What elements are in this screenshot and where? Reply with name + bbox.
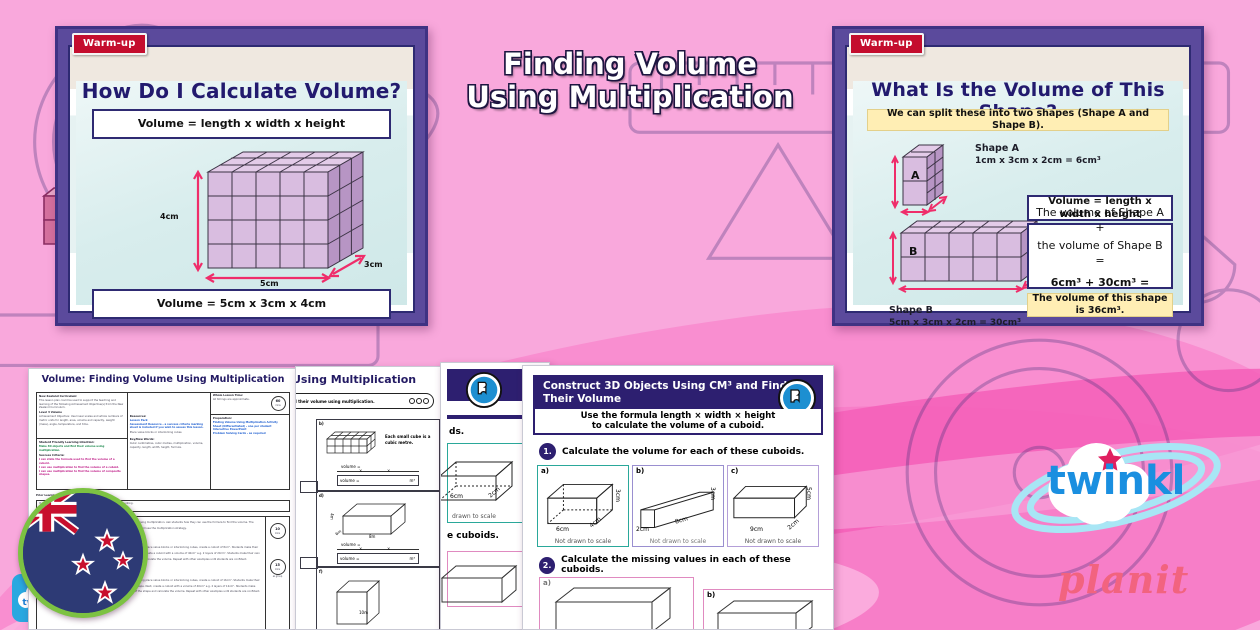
doc3-q2-number: 2.: [539, 557, 555, 574]
doc1-item-d-dim3: 8m: [369, 534, 375, 539]
timing-2-unit: mins: [275, 568, 280, 571]
shape-a-cuboid: A: [885, 139, 975, 219]
level-body: Achievement Objective: Use linear scales…: [39, 415, 125, 426]
doc1-item-b-answer-box[interactable]: volume = m³: [337, 475, 419, 486]
doc1-item-b-line: [337, 471, 419, 472]
success-item-1: I can state the formula used to find the…: [39, 458, 125, 466]
doc2-not-to-scale: drawn to scale: [452, 513, 496, 520]
cuboid-width-label: 5cm: [260, 279, 279, 288]
doc3-q1-item-c: c) 9cm 2cm 5cm Not drawn to scale: [727, 465, 819, 547]
svg-text:B: B: [909, 245, 917, 258]
timing-1-unit: mins: [275, 532, 280, 535]
doc3-q1-number: 1.: [539, 443, 556, 460]
shape-b-calc: 5cm x 3cm x 2cm = 30cm³: [889, 317, 1021, 330]
volume-cuboid-diagram: 4cm 5cm 3cm: [178, 150, 378, 290]
doc3-q1-row: 1. Calculate the volume for each of thes…: [539, 443, 804, 460]
doc1-item-d: d) 4m 6m 8m volume = × × volume = m³: [316, 491, 440, 567]
doc1-circles: [409, 398, 429, 404]
keywords-body: Cubic centimetres, cubic metres, multipl…: [130, 442, 208, 450]
curriculum-body: This lesson plan could be used to suppor…: [39, 399, 125, 410]
preparation-item-3: Problem Solving Cards - as required: [213, 432, 287, 436]
doc3-q1-b-dim3: 3cm: [709, 487, 716, 500]
left-slide-formula-box: Volume = length x width x height: [92, 109, 391, 139]
success-item-3: I can use multiplication to find the vol…: [39, 470, 125, 478]
lesson-time-unit: mins: [275, 404, 280, 407]
twinkl-planit-logo: twinkl planit: [998, 418, 1238, 608]
doc2-title: ds.: [449, 427, 464, 437]
cuboid-height-label: 4cm: [160, 212, 179, 221]
doc3-instruction-2: to calculate the volume of a cuboid.: [592, 421, 764, 431]
doc1-item-d-answer-unit: m³: [410, 556, 416, 561]
doc3-q2-item-b: b): [703, 589, 834, 630]
nz-flag-icon: [23, 493, 143, 613]
left-slide-paper: How Do I Calculate Volume? Volume = leng…: [68, 45, 415, 313]
doc1-item-b-note: Each small cube is a cubic metre.: [385, 434, 441, 446]
doc1-item-d-answer-label: volume =: [340, 556, 359, 561]
shape-a-calc: 1cm x 3cm x 2cm = 6cm³: [975, 155, 1101, 168]
doc3-q1-a-label: a): [541, 467, 549, 475]
doc3-q1-items: a) 6cm 4cm 3cm Not drawn to scale: [537, 465, 819, 547]
doc1-item-d-line: [337, 549, 419, 550]
lesson-time-note: All timings are approximate.: [213, 398, 265, 402]
timing-2-note: as group: [273, 575, 283, 578]
lesson-plan-table: New Zealand Curriculum: This lesson plan…: [36, 392, 290, 490]
doc3-q2-row: 2. Calculate the missing values in each …: [539, 555, 823, 575]
twinkl-wordmark: twinkl: [1047, 458, 1186, 504]
doc1-item-f-label: f): [319, 569, 323, 574]
doc3-instruction-box: Use the formula length × width × height …: [533, 409, 823, 435]
right-slide-paper: What Is the Volume of This Shape? We can…: [845, 45, 1191, 313]
doc3-q2-text: Calculate the missing values in each of …: [561, 555, 823, 575]
document-thumbnail-activity-sheet-3[interactable]: Construct 3D Objects Using CM³ and Find …: [522, 365, 834, 630]
learning-intention-body: Make 3D objects and find their volume us…: [39, 445, 125, 453]
doc1-item-b-answer-unit: m³: [410, 478, 416, 483]
doc3-q1-text: Calculate the volume for each of these c…: [562, 447, 804, 457]
doc3-q2-item-a: a): [539, 577, 694, 630]
doc3-q2-b-label: b): [707, 591, 715, 599]
doc3-q1-item-b: b) 2cm 8cm 3cm Not drawn to scale: [632, 465, 724, 547]
lesson-plan-title: Volume: Finding Volume Using Multiplicat…: [36, 374, 290, 388]
doc1-subtitle: nd their volume using multiplication.: [295, 399, 375, 404]
doc1-item-d-answer-box[interactable]: volume = m³: [337, 553, 419, 564]
doc1-item-b-times-1: ×: [359, 468, 362, 473]
doc3-q1-c-dim1: 9cm: [750, 526, 763, 533]
left-slide-answer-box: Volume = 5cm x 3cm x 4cm: [92, 289, 391, 319]
doc3-q1-a-caption: Not drawn to scale: [538, 538, 628, 545]
warmup-badge-left: Warm-up: [72, 33, 147, 55]
svg-text:A: A: [911, 169, 920, 182]
doc2-prompt: e cuboids.: [447, 531, 499, 541]
doc1-item-f-dim1: 10m: [359, 610, 368, 615]
twinkl-cloud-logo: twinkl: [998, 418, 1238, 568]
puzzle-piece-icon: [465, 371, 503, 409]
doc3-q1-b-caption: Not drawn to scale: [633, 538, 723, 545]
doc1-item-b: b) Each small cube is a cubic metre.: [316, 419, 440, 491]
left-slide-title: How Do I Calculate Volume?: [70, 79, 413, 103]
cuboid-depth-label: 3cm: [364, 260, 383, 269]
doc1-item-f: f) 10m: [316, 567, 440, 630]
new-zealand-flag-badge: [18, 488, 148, 618]
doc1-item-b-times-2: ×: [387, 468, 390, 473]
doc3-q1-a-dim3: 3cm: [614, 489, 621, 502]
doc1-item-d-times-1: ×: [359, 546, 362, 551]
shape-b-name: Shape B: [889, 305, 1021, 317]
doc3-q1-a-dim1: 6cm: [556, 526, 569, 533]
doc3-q1-c-dim3: 5cm: [805, 487, 812, 500]
shape-a-name: Shape A: [975, 143, 1101, 155]
doc1-title: Using Multiplication: [295, 373, 416, 386]
doc1-subtitle-banner: nd their volume using multiplication.: [295, 393, 434, 409]
doc1-item-b-answer-label: volume =: [340, 478, 359, 483]
sum-line-2: the volume of Shape B =: [1034, 239, 1166, 269]
right-slide-banner: We can split these into two shapes (Shap…: [867, 109, 1169, 131]
right-slide-conclusion: The volume of this shape is 36cm³.: [1027, 293, 1173, 317]
warmup-badge-right: Warm-up: [849, 33, 924, 55]
resources-item-2: Assessment Resource - a success criteria…: [130, 423, 208, 431]
doc1-item-d-label: d): [319, 493, 324, 498]
doc3-q1-b-label: b): [636, 467, 644, 475]
doc1-item-d-times-2: ×: [387, 546, 390, 551]
doc3-q1-b-dim1: 2cm: [636, 526, 649, 533]
resources-item-3: Place value blocks or interlocking cubes: [130, 431, 208, 435]
doc1-item-d-answer-prompt: volume =: [341, 542, 360, 547]
doc3-q1-c-caption: Not drawn to scale: [728, 538, 818, 545]
doc2-dim-6cm: 6cm: [450, 493, 463, 500]
doc3-q1-item-a: a) 6cm 4cm 3cm Not drawn to scale: [537, 465, 629, 547]
doc1-item-b-label: b): [319, 421, 324, 426]
document-thumbnail-activity-sheet-1[interactable]: Using Multiplication nd their volume usi…: [295, 366, 445, 630]
doc1-item-d-dim1: 4m: [330, 513, 335, 519]
doc3-instruction-1: Use the formula length × width × height: [581, 411, 776, 421]
right-slide-sum-box: The volume of Shape A + the volume of Sh…: [1027, 223, 1173, 289]
doc3-q1-c-label: c): [731, 467, 738, 475]
planit-wordmark: planit: [1058, 557, 1189, 602]
doc1-item-b-answer-prompt: volume =: [341, 464, 360, 469]
slide-thumbnail-how-do-i-calculate-volume[interactable]: How Do I Calculate Volume? Volume = leng…: [55, 26, 428, 326]
sum-line-1: The volume of Shape A +: [1034, 206, 1166, 236]
slide-thumbnail-what-is-the-volume-of-this-shape[interactable]: What Is the Volume of This Shape? We can…: [832, 26, 1204, 326]
